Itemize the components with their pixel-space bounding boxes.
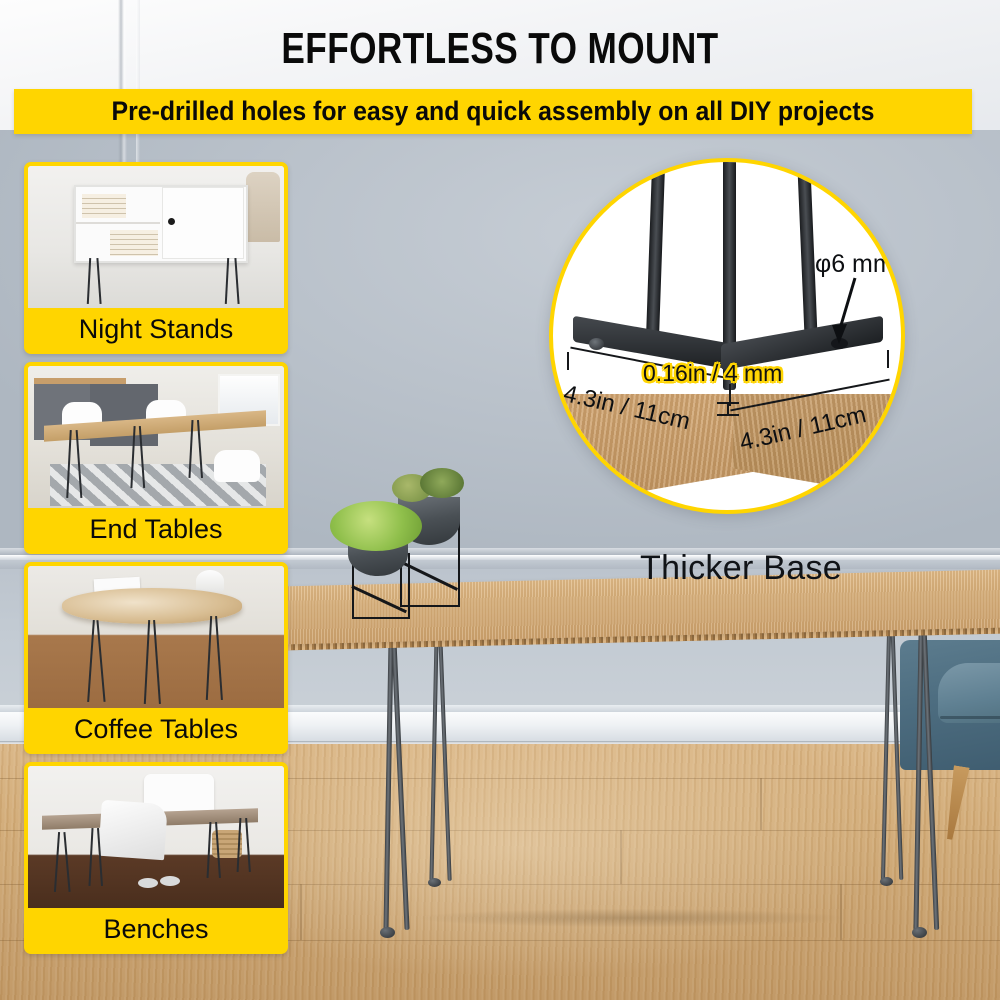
- page-title: EFFORTLESS TO MOUNT: [100, 24, 900, 74]
- plate-thickness-label: 0.16in / 4 mm: [643, 360, 782, 387]
- pre-drilled-hole: [831, 338, 848, 349]
- dim-tick-right-outer: [887, 350, 889, 368]
- dim-tick-right-inner: [729, 388, 731, 406]
- category-card-night-stands[interactable]: Night Stands: [24, 162, 288, 354]
- subtitle-text: Pre-drilled holes for easy and quick ass…: [52, 89, 933, 134]
- product-infographic: φ6 mm 0.16in / 4 mm 4.3in / 11cm 4.3in /…: [0, 0, 1000, 1000]
- bench-photo: [28, 766, 284, 908]
- category-label: Benches: [28, 908, 284, 950]
- coffee-table-photo: [28, 566, 284, 708]
- night-stand-photo: [28, 166, 284, 308]
- category-card-coffee-tables[interactable]: Coffee Tables: [24, 562, 288, 754]
- subtitle-banner: Pre-drilled holes for easy and quick ass…: [14, 89, 972, 134]
- category-card-benches[interactable]: Benches: [24, 762, 288, 954]
- hole-diameter-label: φ6 mm: [815, 250, 894, 279]
- category-card-end-tables[interactable]: End Tables: [24, 362, 288, 554]
- mount-screw: [589, 338, 604, 350]
- end-table-photo: [28, 366, 284, 508]
- category-label: Night Stands: [28, 308, 284, 350]
- dim-tick-left-outer: [567, 352, 569, 370]
- category-label: Coffee Tables: [28, 708, 284, 750]
- thicker-base-caption: Thicker Base: [640, 549, 842, 588]
- category-label: End Tables: [28, 508, 284, 550]
- table-floor-shadow: [330, 905, 930, 931]
- zoom-detail-circle: φ6 mm 0.16in / 4 mm 4.3in / 11cm 4.3in /…: [549, 158, 905, 514]
